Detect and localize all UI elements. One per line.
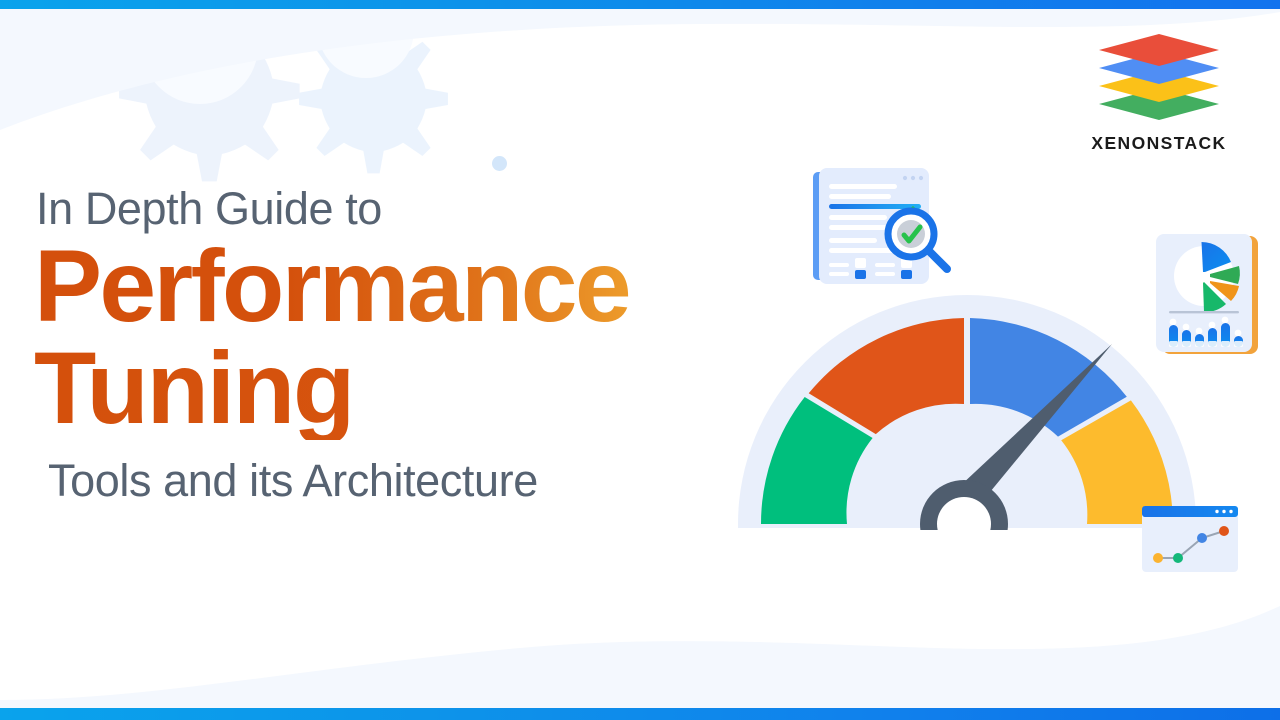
doc-menu-dots-icon [903,176,923,180]
headline-line-2: Tuning [34,336,774,440]
gear-icon-large [119,0,300,181]
trend-chart-window [1138,502,1242,578]
bottom-accent-bar [0,708,1280,720]
point-3-dot [1197,533,1207,543]
banner-canvas: XENONSTACK In Depth Guide to Performance… [0,0,1280,720]
headline-block: In Depth Guide to Performance Tuning Too… [34,186,774,503]
analytics-divider [1169,311,1239,313]
subheadline-text: Tools and its Architecture [48,458,774,503]
performance-gauge [732,280,1202,530]
gear-decor-group [119,0,448,181]
eyebrow-text: In Depth Guide to [36,186,774,231]
analytics-card [1152,232,1262,362]
brand-logo: XENONSTACK [1064,32,1254,154]
point-4-dot [1219,526,1229,536]
document-review-card [805,158,955,308]
window-dots-icon [1215,510,1232,513]
headline-line-1: Performance [34,237,774,336]
stack-layers-icon [1079,32,1239,124]
point-2-dot [1173,553,1183,563]
accent-dot-icon [492,156,507,171]
top-accent-bar [0,0,1280,9]
wave-bottom [0,606,1280,720]
brand-name: XENONSTACK [1064,133,1254,154]
point-1-dot [1153,553,1163,563]
red-layer [1099,34,1219,66]
illustration-group [700,140,1280,600]
gear-icon-small [299,0,448,173]
